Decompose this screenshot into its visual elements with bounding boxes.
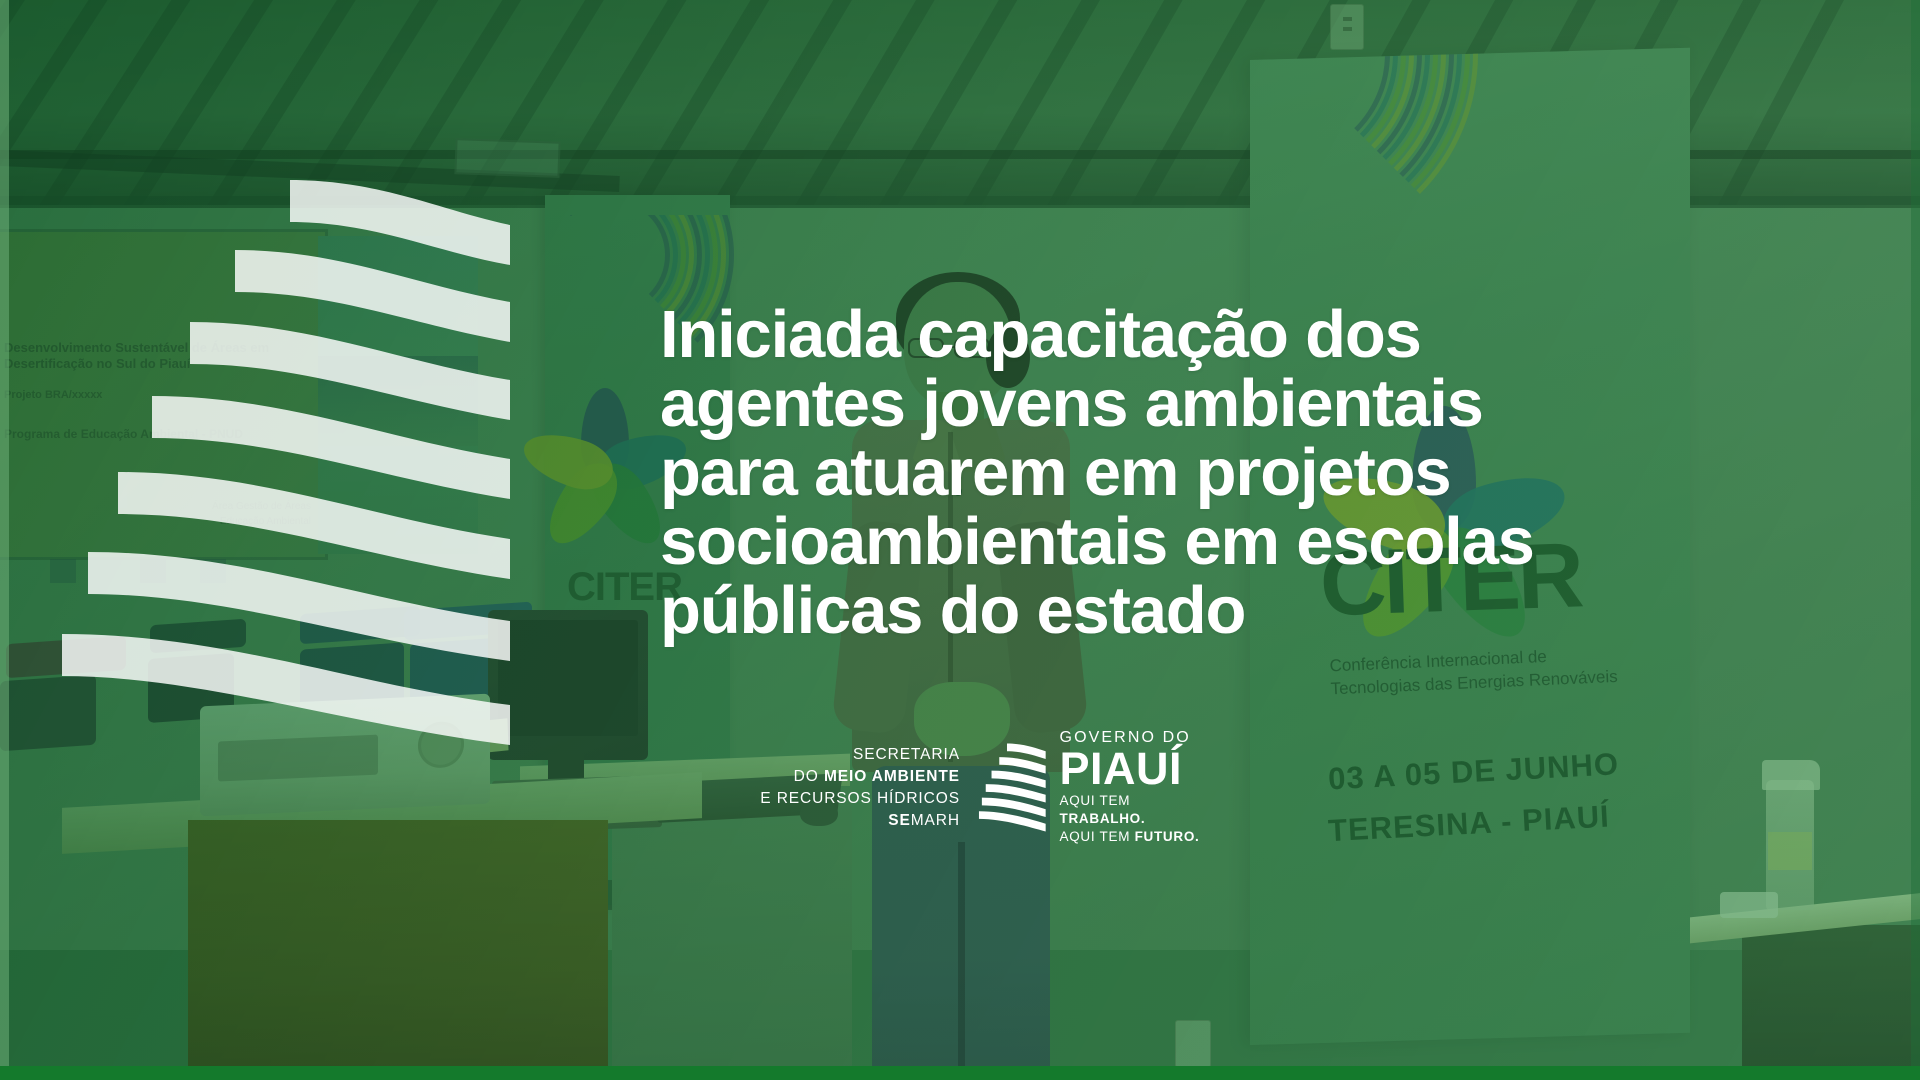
right-edge-strip xyxy=(1911,0,1920,1080)
semarh-line-3: E RECURSOS HÍDRICOS xyxy=(745,788,960,810)
semarh-line-4: SEMARH xyxy=(745,810,960,832)
semarh-line-4-prefix: SE xyxy=(888,812,910,829)
left-edge-strip xyxy=(0,0,9,1080)
promo-banner-canvas: Desenvolvimento Sustentável de Áreas em … xyxy=(0,0,1920,1080)
semarh-line-1: SECRETARIA xyxy=(745,744,960,766)
semarh-line-2: DO MEIO AMBIENTE xyxy=(745,766,960,788)
governo-tagline-2: AQUI TEM FUTURO. xyxy=(1060,828,1215,846)
tagline-1-prefix: AQUI TEM xyxy=(1060,793,1131,808)
semarh-logo: SECRETARIA DO MEIO AMBIENTE E RECURSOS H… xyxy=(745,744,960,832)
tagline-2-prefix: AQUI TEM xyxy=(1060,829,1135,844)
governo-piaui-text: GOVERNO DO PIAUÍ AQUI TEM TRABALHO. AQUI… xyxy=(1060,729,1215,845)
bottom-accent-bar xyxy=(0,1066,1920,1080)
tagline-2-bold: FUTURO. xyxy=(1135,829,1200,844)
governo-tagline-1: AQUI TEM TRABALHO. xyxy=(1060,792,1215,828)
tagline-1-bold: TRABALHO. xyxy=(1060,811,1146,826)
piaui-wave-watermark xyxy=(40,140,660,760)
semarh-line-2-bold: MEIO AMBIENTE xyxy=(824,768,960,785)
governo-line-2: PIAUÍ xyxy=(1060,747,1215,790)
governo-tagline: AQUI TEM TRABALHO. AQUI TEM FUTURO. xyxy=(1060,792,1215,845)
piaui-wave-mark-icon xyxy=(978,740,1048,836)
semarh-line-4-rest: MARH xyxy=(911,812,960,829)
semarh-line-2-prefix: DO xyxy=(794,768,824,785)
governo-piaui-logo: GOVERNO DO PIAUÍ AQUI TEM TRABALHO. AQUI… xyxy=(978,729,1215,845)
page-title: Iniciada capacitação dos agentes jovens … xyxy=(660,300,1670,645)
logo-row: SECRETARIA DO MEIO AMBIENTE E RECURSOS H… xyxy=(745,735,1215,840)
